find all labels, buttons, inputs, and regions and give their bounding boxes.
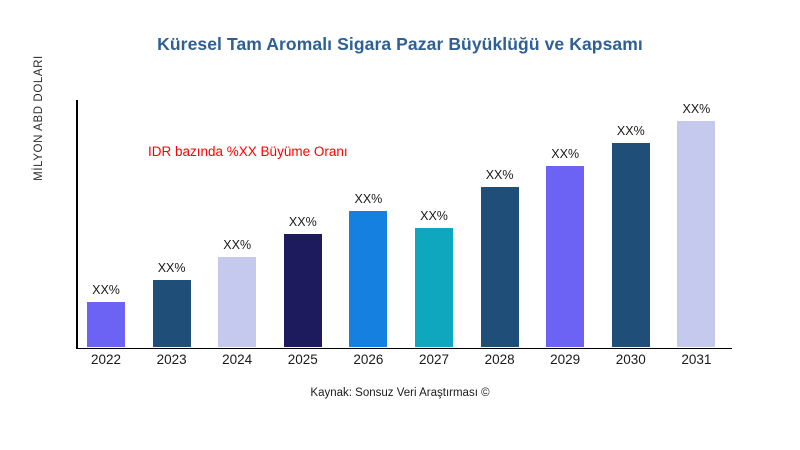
x-tick-label: 2022 — [74, 352, 138, 367]
bar-group[interactable]: XX% — [546, 166, 584, 347]
x-tick-label: 2026 — [336, 352, 400, 367]
bar[interactable] — [153, 280, 191, 347]
bar-value-label: XX% — [223, 238, 251, 252]
x-tick-label: 2030 — [599, 352, 663, 367]
bar-group[interactable]: XX% — [349, 211, 387, 347]
bar-group[interactable]: XX% — [87, 302, 125, 347]
bar-value-label: XX% — [551, 147, 579, 161]
x-tick-label: 2029 — [533, 352, 597, 367]
bar-value-label: XX% — [92, 283, 120, 297]
bar-group[interactable]: XX% — [612, 143, 650, 347]
x-tick-label: 2028 — [468, 352, 532, 367]
bar[interactable] — [612, 143, 650, 347]
bar-group[interactable]: XX% — [677, 121, 715, 347]
bar[interactable] — [415, 228, 453, 347]
bar[interactable] — [677, 121, 715, 347]
bar-group[interactable]: XX% — [284, 234, 322, 347]
bar-value-label: XX% — [289, 215, 317, 229]
bar[interactable] — [546, 166, 584, 347]
bar-group[interactable]: XX% — [218, 257, 256, 347]
x-tick-label: 2027 — [402, 352, 466, 367]
bar-group[interactable]: XX% — [415, 228, 453, 347]
x-tick-label: 2024 — [205, 352, 269, 367]
bar-value-label: XX% — [617, 124, 645, 138]
x-tick-label: 2023 — [140, 352, 204, 367]
x-tick-label: 2025 — [271, 352, 335, 367]
bar[interactable] — [284, 234, 322, 347]
bar-value-label: XX% — [682, 102, 710, 116]
y-axis-title: MİLYON ABD DOLARI — [33, 0, 45, 253]
plot-area: IDR bazında %XX Büyüme Oranı XX%XX%XX%XX… — [76, 100, 788, 349]
x-tick-label: 2031 — [664, 352, 728, 367]
bar-group[interactable]: XX% — [153, 280, 191, 347]
bar[interactable] — [481, 187, 519, 347]
bar[interactable] — [87, 302, 125, 347]
bar-value-label: XX% — [158, 261, 186, 275]
bar[interactable] — [218, 257, 256, 347]
source-caption: Kaynak: Sonsuz Veri Araştırması © — [0, 387, 800, 399]
bar-series: XX%XX%XX%XX%XX%XX%XX%XX%XX%XX% — [76, 100, 788, 349]
chart-title: Küresel Tam Aromalı Sigara Pazar Büyüklü… — [0, 34, 800, 55]
bar-group[interactable]: XX% — [481, 187, 519, 347]
bar-value-label: XX% — [420, 209, 448, 223]
bar-value-label: XX% — [486, 168, 514, 182]
bar-value-label: XX% — [354, 192, 382, 206]
chart-container: Küresel Tam Aromalı Sigara Pazar Büyüklü… — [0, 0, 800, 450]
x-axis-tick-labels: 2022202320242025202620272028202920302031 — [76, 352, 788, 374]
bar[interactable] — [349, 211, 387, 347]
